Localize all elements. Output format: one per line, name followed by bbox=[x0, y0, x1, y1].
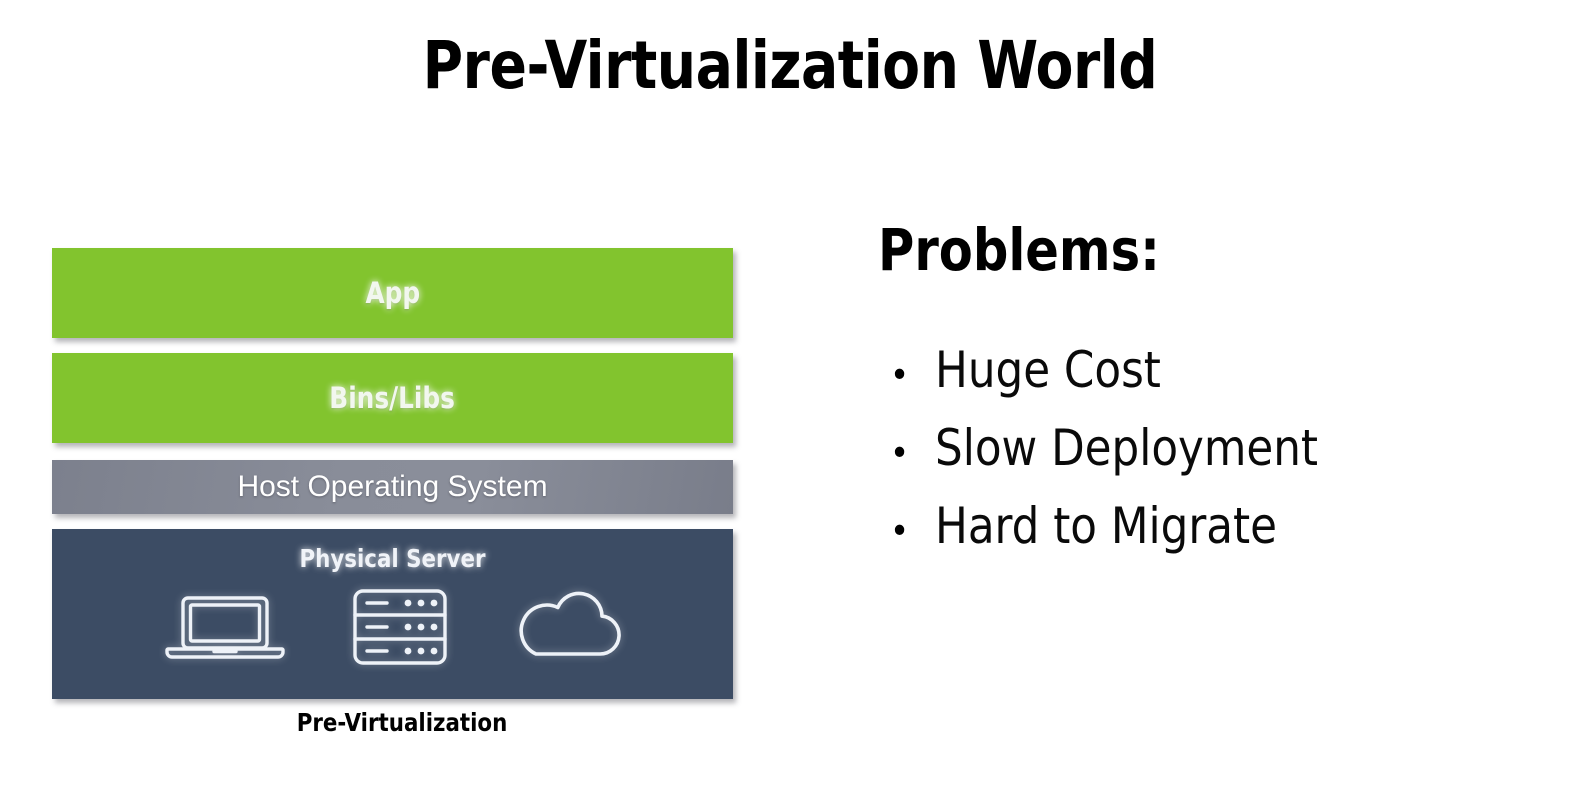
slide-canvas: Pre-Virtualization World App Bins/Libs H… bbox=[0, 0, 1580, 792]
stack-layer-app: App bbox=[52, 248, 733, 338]
problems-heading: Problems: bbox=[878, 215, 1486, 285]
cloud-icon bbox=[512, 591, 624, 663]
stack-layer-bins-libs-label: Bins/Libs bbox=[330, 381, 456, 415]
stack-layer-physical-server: Physical Server bbox=[52, 529, 733, 699]
stack-diagram-caption: Pre-Virtualization bbox=[70, 708, 735, 737]
bullet-icon: • bbox=[878, 337, 935, 415]
stack-layer-physical-server-label: Physical Server bbox=[69, 529, 716, 573]
page-title: Pre-Virtualization World bbox=[55, 24, 1524, 108]
stack-layer-app-label: App bbox=[365, 276, 420, 310]
problem-item-label: Huge Cost bbox=[935, 331, 1161, 409]
problem-item-label: Slow Deployment bbox=[935, 409, 1318, 487]
server-rack-icon bbox=[350, 587, 450, 667]
list-item: • Huge Cost bbox=[878, 331, 1518, 409]
stack-layer-bins-libs: Bins/Libs bbox=[52, 353, 733, 443]
problem-item-label: Hard to Migrate bbox=[935, 487, 1277, 565]
stack-layer-host-os: Host Operating System bbox=[52, 460, 733, 514]
infrastructure-icon-row bbox=[52, 587, 733, 667]
laptop-icon bbox=[162, 592, 288, 662]
bullet-icon: • bbox=[878, 415, 935, 493]
list-item: • Slow Deployment bbox=[878, 409, 1518, 487]
problems-section: Problems: • Huge Cost • Slow Deployment … bbox=[878, 215, 1518, 565]
list-item: • Hard to Migrate bbox=[878, 487, 1518, 565]
bullet-icon: • bbox=[878, 493, 935, 571]
stack-diagram: App Bins/Libs Host Operating System Phys… bbox=[52, 248, 733, 699]
problems-list: • Huge Cost • Slow Deployment • Hard to … bbox=[878, 331, 1518, 565]
stack-layer-host-os-label: Host Operating System bbox=[237, 470, 547, 504]
